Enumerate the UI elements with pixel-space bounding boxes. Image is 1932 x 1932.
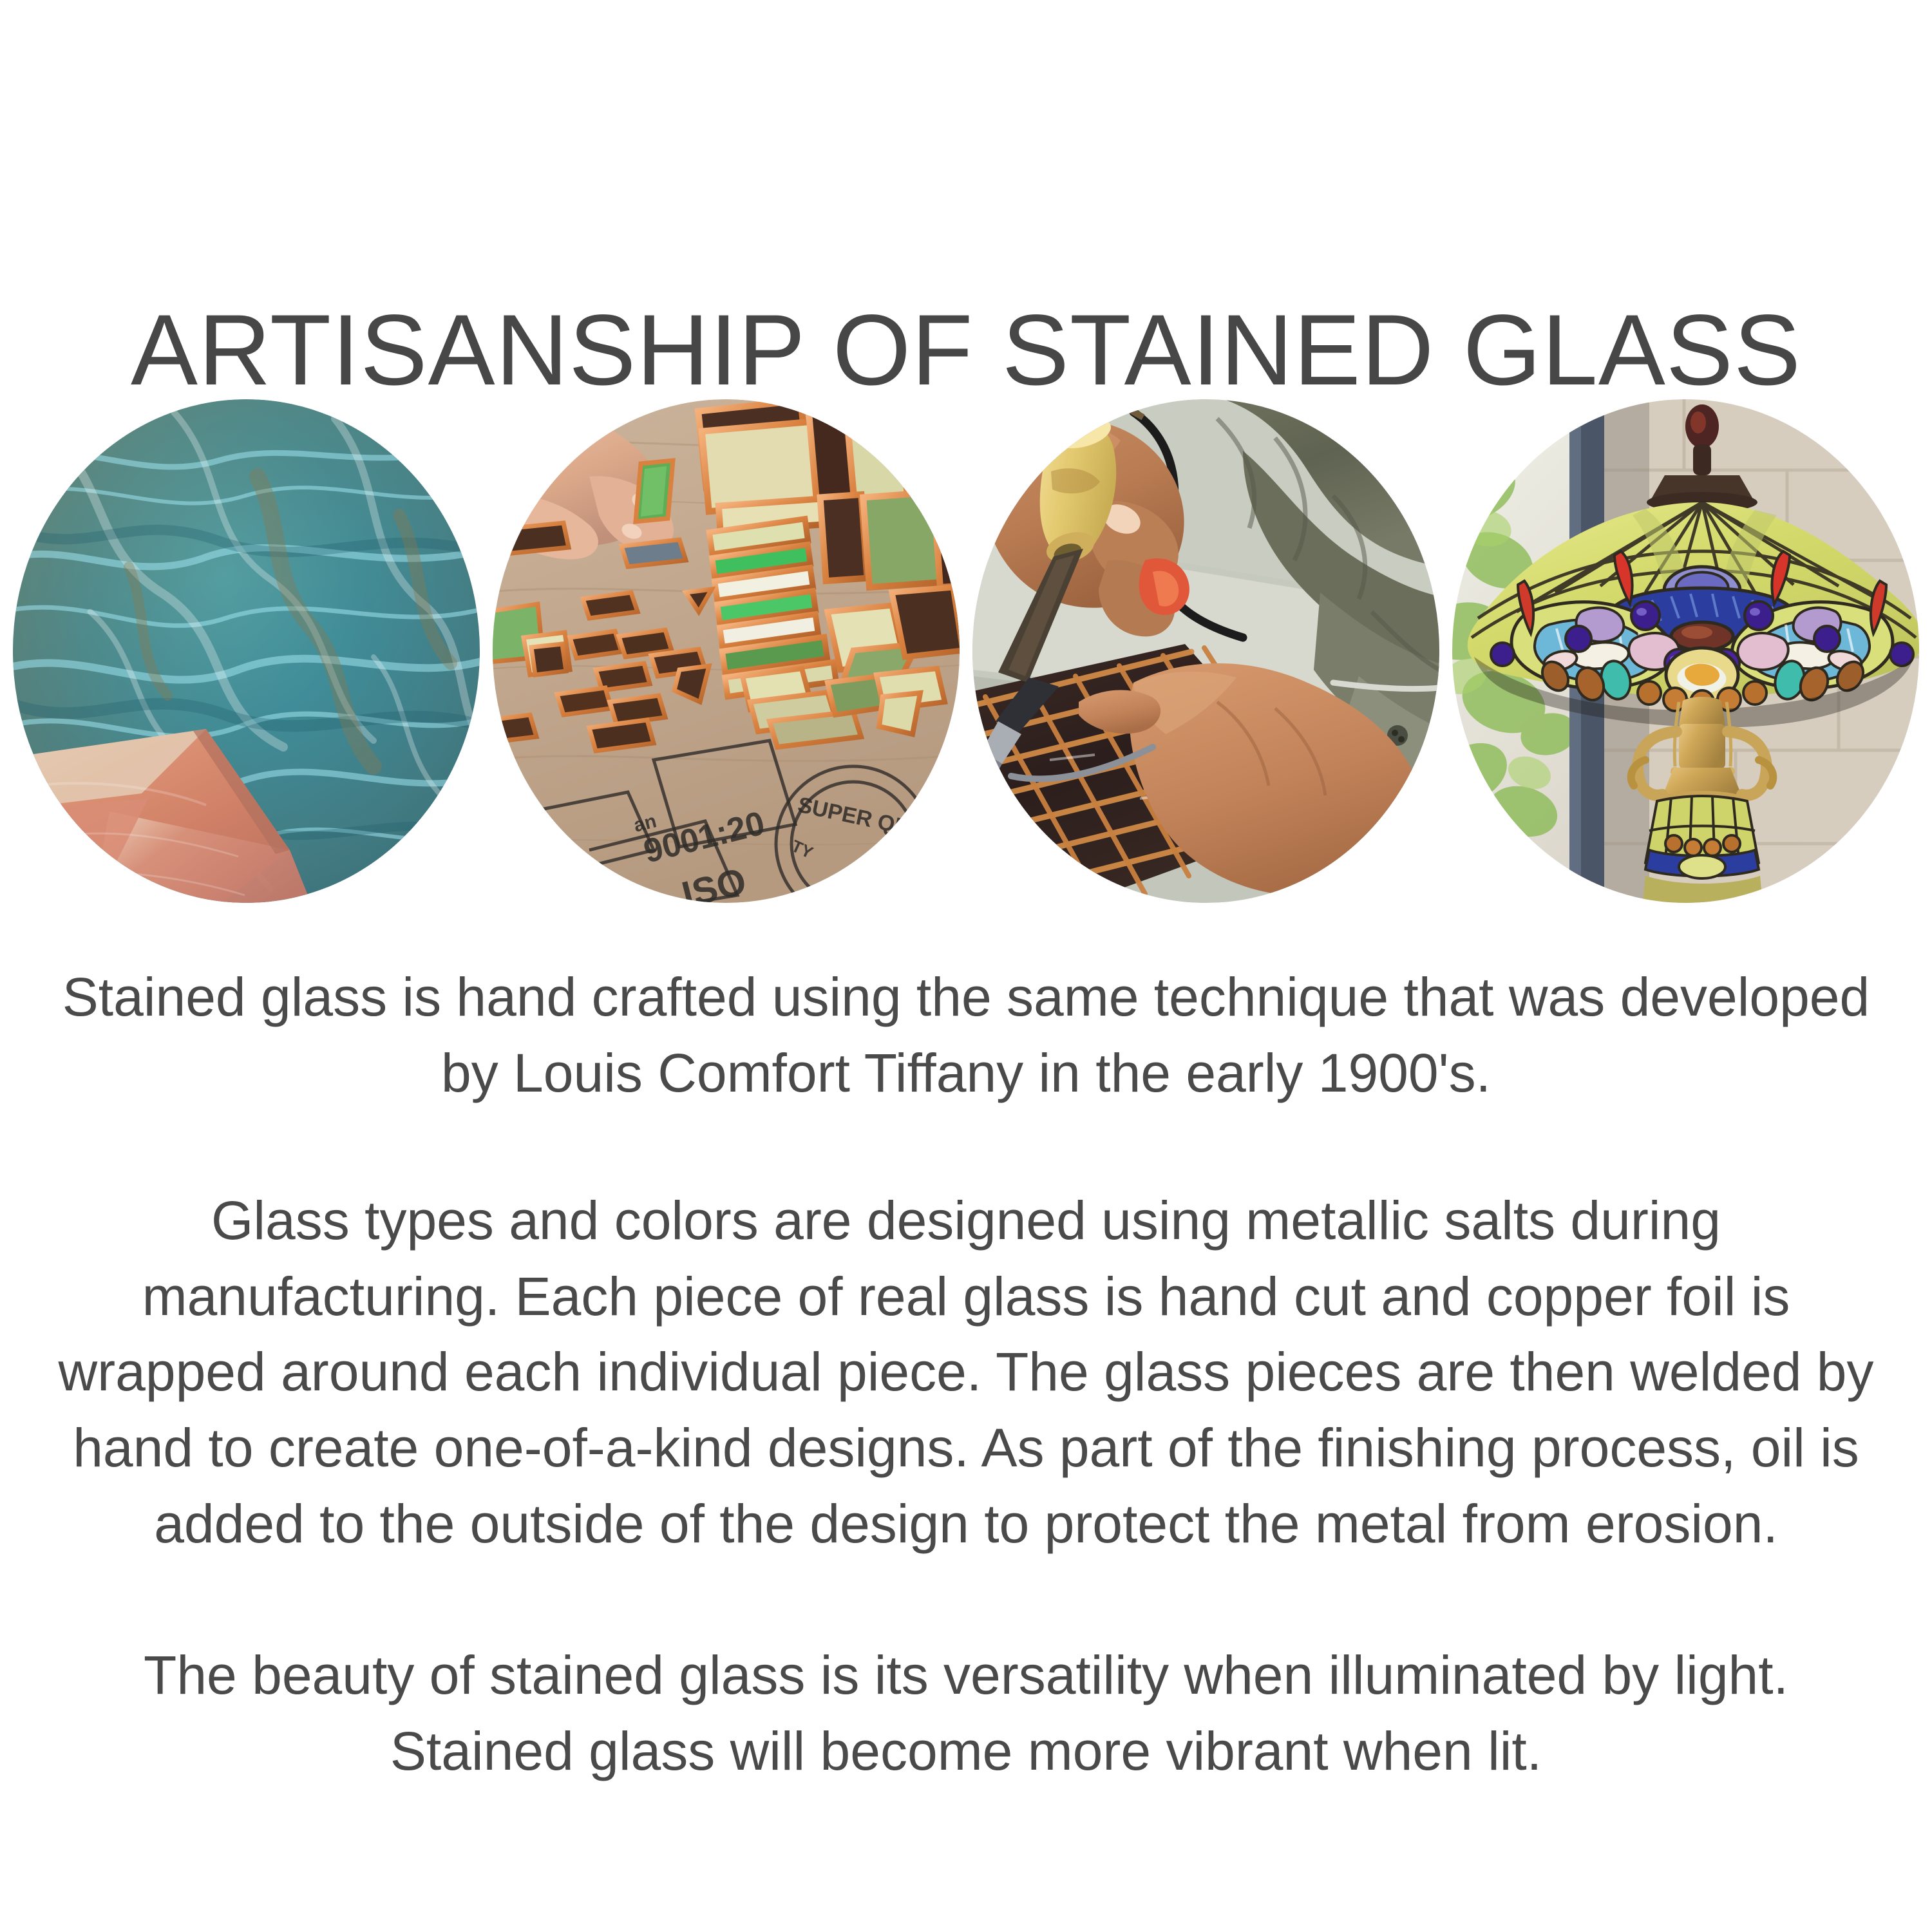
- paragraph-one: Stained glass is hand crafted using the …: [45, 960, 1887, 1111]
- stained-glass-infographic: ARTISANSHIP OF STAINED GLASS: [0, 0, 1932, 1932]
- body-text-container: Stained glass is hand crafted using the …: [45, 960, 1887, 1789]
- glass-sheet-photo: [13, 399, 480, 903]
- copper-foiling-photo: 9001:20 ISO an SUPER QU TY CE: [493, 399, 960, 903]
- soldering-photo: [972, 399, 1439, 903]
- svg-text:CE: CE: [891, 822, 920, 852]
- finished-lamp-photo: [1452, 399, 1919, 903]
- image-gallery-strip: 9001:20 ISO an SUPER QU TY CE: [13, 399, 1919, 903]
- paragraph-three: The beauty of stained glass is its versa…: [45, 1638, 1887, 1789]
- page-title: ARTISANSHIP OF STAINED GLASS: [131, 299, 1801, 402]
- paragraph-two: Glass types and colors are designed usin…: [45, 1183, 1887, 1562]
